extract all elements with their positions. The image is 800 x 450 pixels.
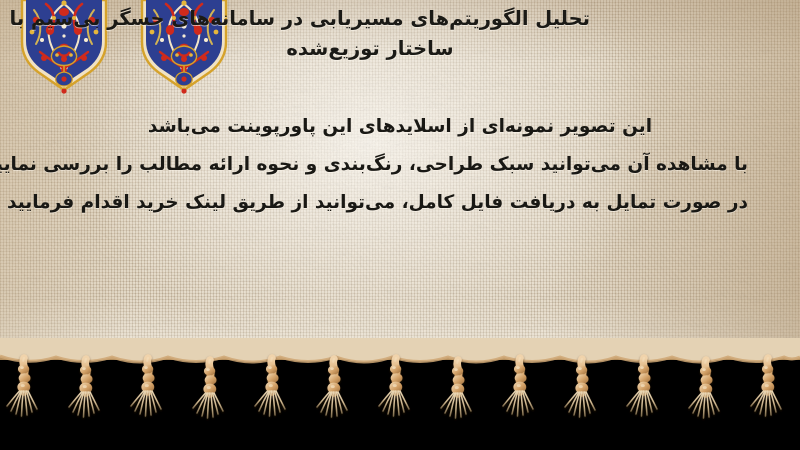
slide-title-line-2: ساختار توزیع‌شده bbox=[40, 34, 760, 64]
slide-body-line-1: این تصویر نمونه‌ای از اسلایدهای این پاور… bbox=[52, 108, 748, 146]
slide-body-line-2: با مشاهده آن می‌توانید سبک طراحی، رنگ‌بن… bbox=[52, 146, 748, 184]
slide-title-line-1: تحلیل الگوریتم‌های مسیریابی در سامانه‌ها… bbox=[40, 4, 760, 34]
slide-body-line-3: در صورت تمایل به دریافت فایل کامل، می‌تو… bbox=[52, 184, 748, 222]
carpet-fringe bbox=[0, 338, 800, 450]
slide-title: تحلیل الگوریتم‌های مسیریابی در سامانه‌ها… bbox=[0, 4, 800, 64]
slide-body: این تصویر نمونه‌ای از اسلایدهای این پاور… bbox=[0, 108, 800, 222]
presentation-slide: تحلیل الگوریتم‌های مسیریابی در سامانه‌ها… bbox=[0, 0, 800, 450]
